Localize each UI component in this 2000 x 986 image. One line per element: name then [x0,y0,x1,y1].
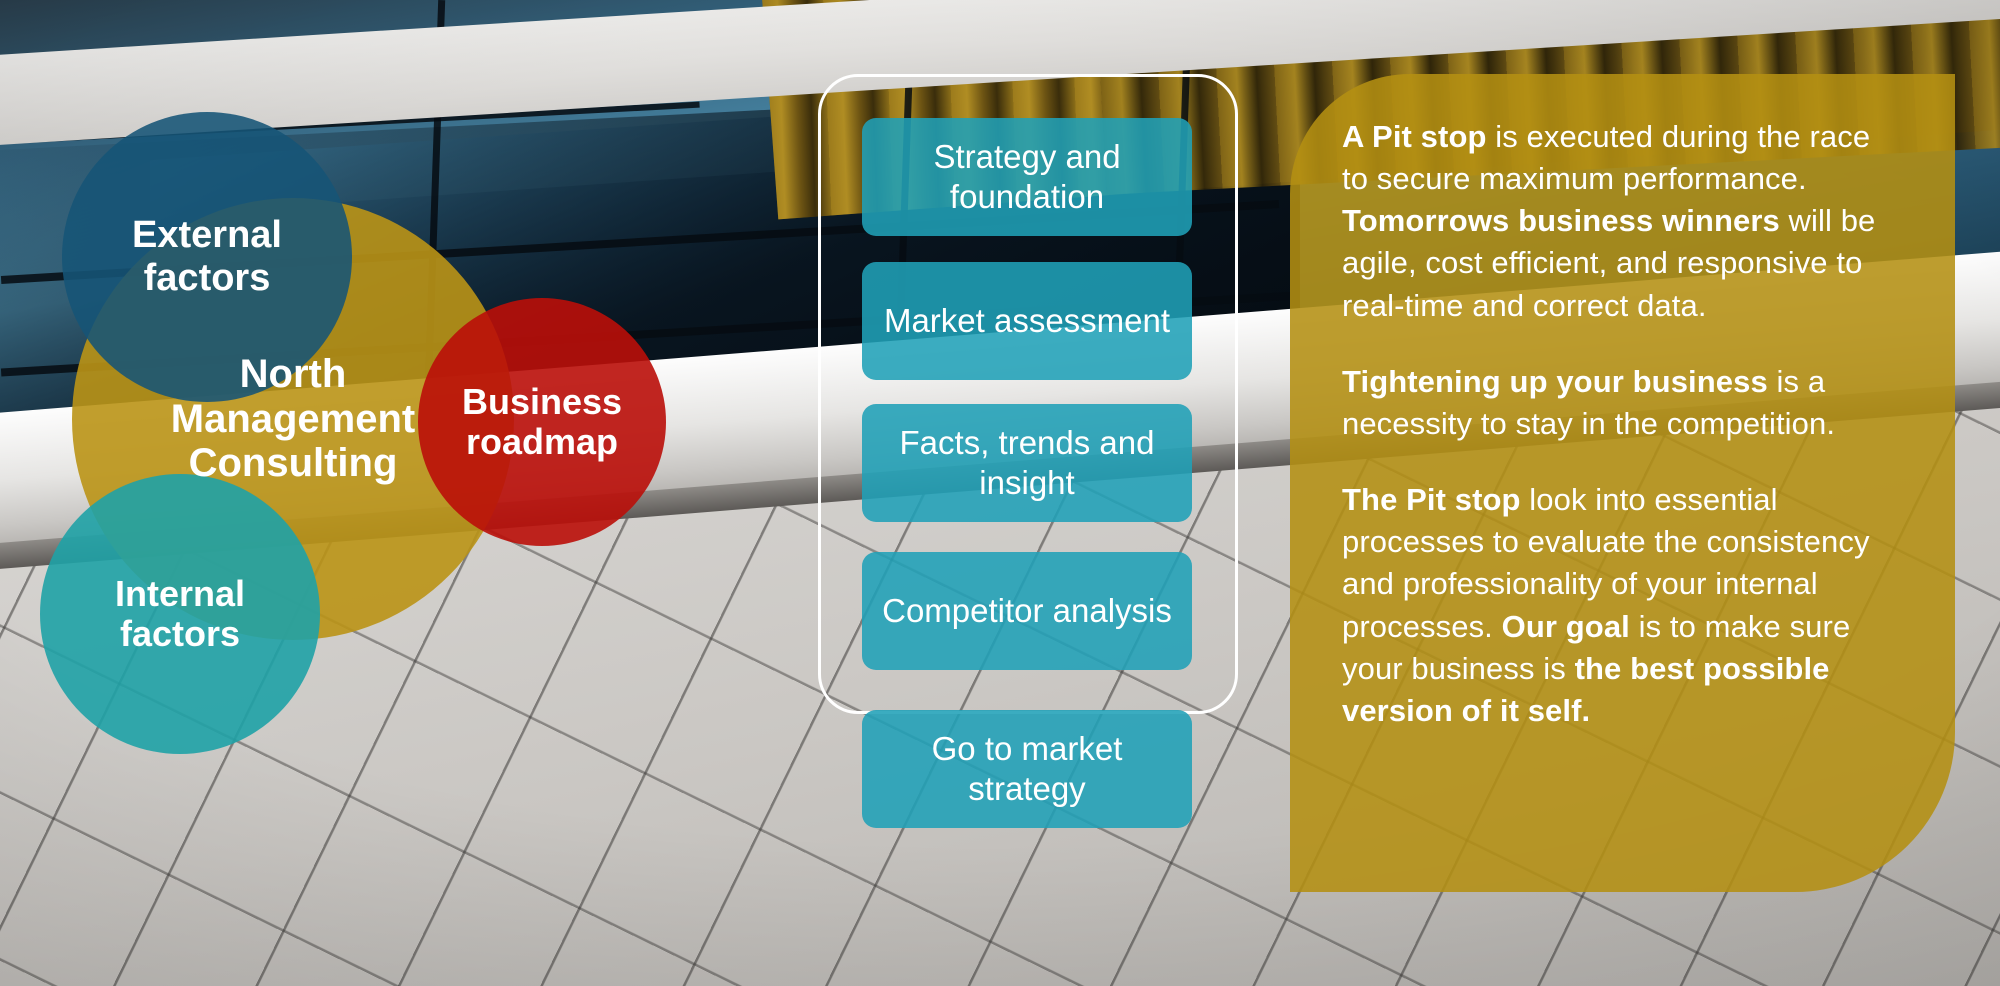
roadmap-step-label: Facts, trends and insight [876,423,1178,504]
emphasis-text: A Pit stop [1342,119,1487,154]
roadmap-step-facts-trends-and-insight[interactable]: Facts, trends and insight [862,404,1192,522]
slide-canvas: NorthManagementConsulting Externalfactor… [0,0,2000,986]
circle-business-roadmap[interactable]: Businessroadmap [418,298,666,546]
pit-stop-paragraph-2: Tightening up your business is a necessi… [1342,361,1903,445]
circle-label-nmc: NorthManagementConsulting [171,352,416,486]
emphasis-text: Our goal [1502,609,1630,644]
pit-stop-paragraph-1: A Pit stop is executed during the race t… [1342,116,1903,327]
emphasis-text: Tomorrows business winners [1342,203,1780,238]
roadmap-step-label: Strategy and foundation [876,137,1178,218]
roadmap-step-label: Competitor analysis [882,591,1172,631]
circle-internal-factors[interactable]: Internalfactors [40,474,320,754]
emphasis-text: The Pit stop [1342,482,1521,517]
pit-stop-paragraph-3: The Pit stop look into essential process… [1342,479,1903,732]
roadmap-step-competitor-analysis[interactable]: Competitor analysis [862,552,1192,670]
roadmap-step-market-assessment[interactable]: Market assessment [862,262,1192,380]
circle-label-external: Externalfactors [132,214,282,299]
circle-label-internal: Internalfactors [115,574,245,655]
roadmap-step-label: Go to market strategy [876,729,1178,810]
emphasis-text: Tightening up your business [1342,364,1768,399]
pit-stop-description-panel: A Pit stop is executed during the race t… [1290,74,1955,892]
roadmap-step-strategy-and-foundation[interactable]: Strategy and foundation [862,118,1192,236]
circle-label-business: Businessroadmap [462,382,622,463]
roadmap-step-label: Market assessment [884,301,1170,341]
roadmap-step-go-to-market-strategy[interactable]: Go to market strategy [862,710,1192,828]
